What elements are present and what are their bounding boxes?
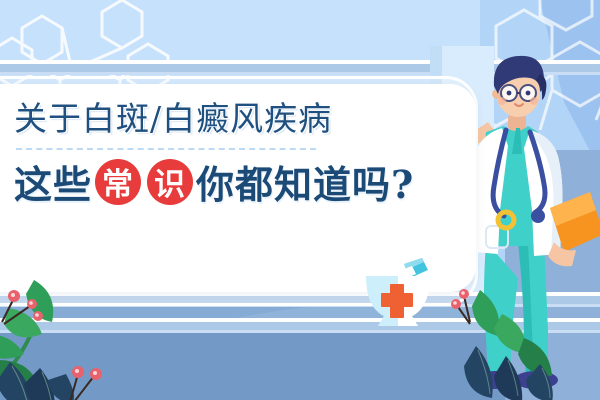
headline-badge-2: 识: [147, 159, 193, 205]
berry-cluster-left-2: [70, 366, 102, 400]
headline-line-2-suffix: 你都知道吗?: [196, 154, 414, 209]
headline-line-2-prefix: 这些: [14, 154, 92, 209]
headline-line-1: 关于白斑/白癜风疾病: [14, 96, 434, 142]
plant-leaves-right: [450, 280, 600, 400]
poster-banner: 关于白斑/白癜风疾病 这些 常 识 你都知道吗?: [0, 0, 600, 400]
berry-cluster-right: [451, 289, 470, 324]
headline-dashed-divider: [16, 148, 316, 150]
mortar-pestle-icon: [352, 258, 444, 330]
plant-leaves-left: [0, 262, 180, 400]
headline-badge-1: 常: [95, 159, 141, 205]
headline-block: 关于白斑/白癜风疾病 这些 常 识 你都知道吗?: [14, 96, 434, 209]
headline-line-2: 这些 常 识 你都知道吗?: [14, 154, 434, 209]
